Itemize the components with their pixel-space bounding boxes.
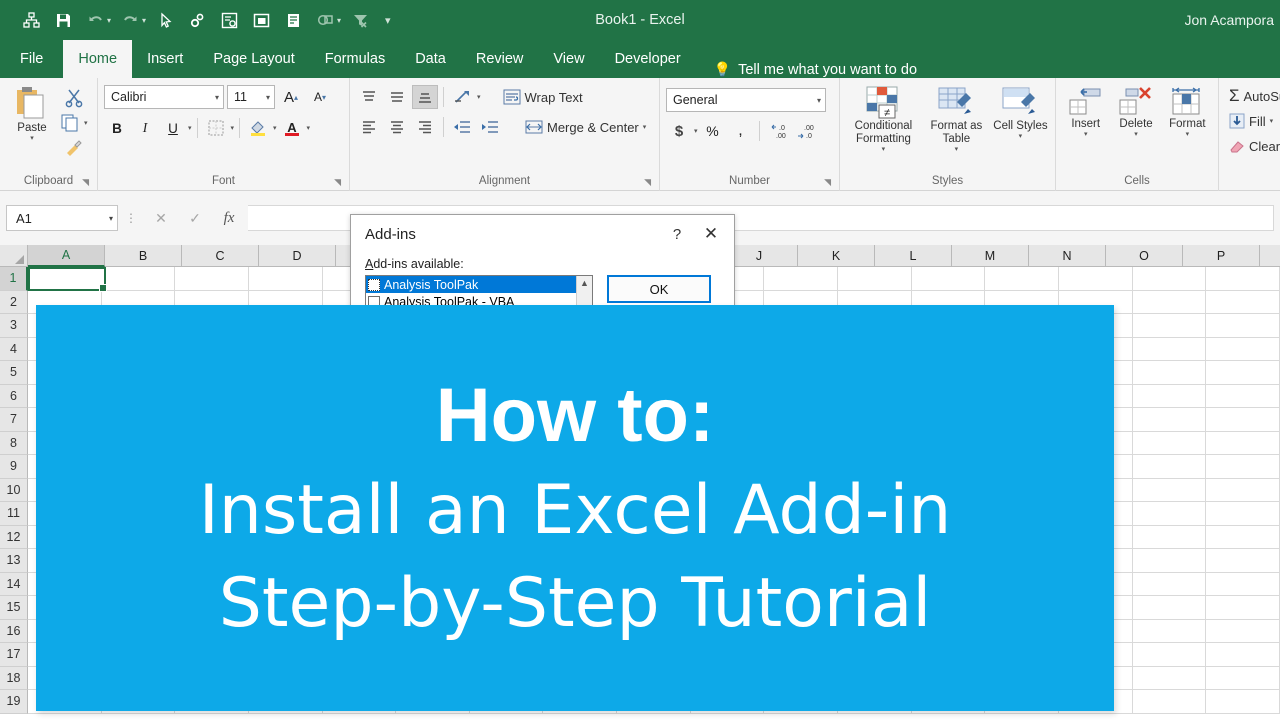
grid-cell[interactable] bbox=[249, 267, 323, 291]
grid-cell[interactable] bbox=[1133, 549, 1207, 573]
banner-line-2: Install an Excel Add-in bbox=[199, 467, 952, 555]
group-editing: Σ AutoSum Fill ▾ Clear bbox=[1218, 78, 1280, 191]
row-header-18[interactable]: 18 bbox=[0, 667, 28, 691]
grid-cell[interactable] bbox=[1133, 596, 1207, 620]
hierarchy-icon[interactable] bbox=[16, 5, 46, 35]
svg-text:.00: .00 bbox=[776, 133, 786, 140]
grid-cell[interactable] bbox=[764, 267, 838, 291]
number-format-combo[interactable]: General ▾ bbox=[666, 88, 826, 112]
number-separator bbox=[759, 121, 760, 141]
name-box[interactable]: A1 ▾ bbox=[6, 205, 118, 231]
paste-icon bbox=[15, 86, 49, 122]
name-box-caret-icon[interactable]: ▾ bbox=[109, 214, 113, 223]
underline-button[interactable]: U bbox=[160, 115, 186, 141]
eraser-icon bbox=[1229, 138, 1245, 154]
cut-button[interactable] bbox=[60, 87, 88, 109]
copy-caret-icon[interactable]: ▾ bbox=[84, 119, 88, 127]
grid-cell[interactable] bbox=[838, 267, 912, 291]
grid-cell[interactable] bbox=[1206, 526, 1280, 550]
autosum-label: AutoSum bbox=[1244, 89, 1280, 104]
grid-cell[interactable] bbox=[1206, 338, 1280, 362]
delete-cells-caret-icon[interactable]: ▾ bbox=[1134, 131, 1138, 139]
account-name[interactable]: Jon Acampora bbox=[1185, 0, 1275, 40]
tab-home[interactable]: Home bbox=[63, 40, 132, 78]
row-header-8[interactable]: 8 bbox=[0, 432, 28, 456]
tab-developer[interactable]: Developer bbox=[600, 40, 696, 78]
insert-cells-caret-icon[interactable]: ▾ bbox=[1084, 131, 1088, 139]
grid-cell[interactable] bbox=[1206, 643, 1280, 667]
grid-cell[interactable] bbox=[1133, 479, 1207, 503]
font-size-value: 11 bbox=[234, 90, 260, 104]
grid-cell[interactable] bbox=[1133, 620, 1207, 644]
group-label-font: Font ◥ bbox=[104, 171, 343, 191]
svg-text:.00: .00 bbox=[804, 125, 814, 132]
format-cells-button[interactable]: Format ▾ bbox=[1163, 84, 1212, 139]
font-separator-2 bbox=[239, 118, 240, 138]
select-all-corner[interactable] bbox=[0, 245, 28, 267]
wrap-text-icon bbox=[503, 89, 521, 105]
group-label-editing bbox=[1225, 171, 1274, 191]
tell-me-label: Tell me what you want to do bbox=[738, 62, 917, 78]
percent-button[interactable]: % bbox=[700, 118, 726, 144]
column-header-N[interactable]: N bbox=[1029, 245, 1106, 267]
grid-cell[interactable] bbox=[1133, 643, 1207, 667]
font-size-combo[interactable]: 11 ▾ bbox=[227, 85, 275, 109]
ok-button[interactable]: OK bbox=[607, 275, 711, 303]
clipboard-label-text: Clipboard bbox=[24, 175, 73, 187]
excel-window: ▾ ▾ ▾ bbox=[0, 0, 1280, 720]
font-color-caret-icon[interactable]: ▾ bbox=[307, 124, 311, 132]
cells-label-text: Cells bbox=[1124, 175, 1150, 187]
ribbon-tabs: File Home Insert Page Layout Formulas Da… bbox=[0, 40, 1280, 78]
video-title-banner: How to: Install an Excel Add-in Step-by-… bbox=[36, 305, 1114, 711]
grid-cell[interactable] bbox=[1206, 314, 1280, 338]
currency-caret-icon[interactable]: ▾ bbox=[694, 127, 698, 135]
ribbon-home: Paste ▾ ▾ bbox=[0, 78, 1280, 191]
format-as-table-label: Format as Table bbox=[923, 120, 990, 146]
tab-file[interactable]: File bbox=[0, 40, 63, 78]
banner-line-1: How to: bbox=[436, 368, 715, 463]
delete-cells-label: Delete bbox=[1119, 118, 1152, 131]
decrease-decimal-button[interactable]: .00.0 bbox=[793, 118, 819, 144]
shrink-font-button[interactable]: A▾ bbox=[307, 84, 333, 110]
cell-styles-button[interactable]: Cell Styles ▾ bbox=[992, 84, 1049, 141]
alignment-dialog-launcher[interactable]: ◥ bbox=[644, 177, 651, 188]
number-format-value: General bbox=[673, 93, 811, 107]
fill-color-caret-icon[interactable]: ▾ bbox=[273, 124, 277, 132]
cell-styles-label: Cell Styles bbox=[993, 120, 1047, 133]
row-header-3[interactable]: 3 bbox=[0, 314, 28, 338]
group-label-cells: Cells bbox=[1062, 171, 1212, 191]
row-header-13[interactable]: 13 bbox=[0, 549, 28, 573]
formula-bar-grip[interactable]: ⋮ bbox=[118, 211, 144, 225]
row-header-1[interactable]: 1 bbox=[0, 267, 28, 291]
conditional-formatting-label: Conditional Formatting bbox=[846, 120, 921, 146]
align-right-button[interactable] bbox=[412, 115, 438, 139]
column-header-C[interactable]: C bbox=[182, 245, 259, 267]
grid-cell[interactable] bbox=[1206, 667, 1280, 691]
align-center-button[interactable] bbox=[384, 115, 410, 139]
tab-page-layout[interactable]: Page Layout bbox=[198, 40, 309, 78]
grid-cell[interactable] bbox=[1133, 267, 1207, 291]
clear-filter-icon[interactable] bbox=[345, 5, 375, 35]
alignment-separator bbox=[443, 87, 444, 107]
format-cells-caret-icon[interactable]: ▾ bbox=[1186, 131, 1190, 139]
align-bottom-button[interactable] bbox=[412, 85, 438, 109]
fill-caret-icon[interactable]: ▾ bbox=[1270, 117, 1274, 125]
column-header-L[interactable]: L bbox=[875, 245, 952, 267]
number-format-caret-icon[interactable]: ▾ bbox=[811, 96, 821, 105]
banner-line-3: Step-by-Step Tutorial bbox=[219, 560, 932, 648]
grid-cell[interactable] bbox=[1206, 291, 1280, 315]
bold-button[interactable]: B bbox=[104, 115, 130, 141]
grid-cell[interactable] bbox=[1206, 408, 1280, 432]
align-left-button[interactable] bbox=[356, 115, 382, 139]
redo-caret-icon[interactable]: ▾ bbox=[142, 16, 146, 25]
grid-cell[interactable] bbox=[1133, 291, 1207, 315]
grid-cell[interactable] bbox=[985, 267, 1059, 291]
grid-cell[interactable] bbox=[912, 267, 986, 291]
macros-gears-icon[interactable] bbox=[182, 5, 212, 35]
column-header-K[interactable]: K bbox=[798, 245, 875, 267]
grid-cell[interactable] bbox=[102, 267, 176, 291]
indent-separator bbox=[443, 117, 444, 137]
insert-cells-label: Insert bbox=[1071, 118, 1100, 131]
grid-cell[interactable] bbox=[1059, 267, 1133, 291]
format-cells-label: Format bbox=[1169, 118, 1205, 131]
grid-cell[interactable] bbox=[1133, 667, 1207, 691]
svg-text:.0: .0 bbox=[779, 125, 785, 132]
number-label-text: Number bbox=[729, 175, 770, 187]
row-header-11[interactable]: 11 bbox=[0, 502, 28, 526]
tab-insert[interactable]: Insert bbox=[132, 40, 198, 78]
column-header-A[interactable]: A bbox=[28, 245, 105, 267]
grid-cell[interactable] bbox=[1206, 385, 1280, 409]
fill-button[interactable]: Fill ▾ bbox=[1225, 109, 1277, 133]
number-dialog-launcher[interactable]: ◥ bbox=[824, 177, 831, 188]
grid-cell[interactable] bbox=[1133, 432, 1207, 456]
align-top-button[interactable] bbox=[356, 85, 382, 109]
grow-font-button[interactable]: A▴ bbox=[278, 84, 304, 110]
grid-cell[interactable] bbox=[1133, 314, 1207, 338]
font-size-caret-icon[interactable]: ▾ bbox=[260, 93, 270, 102]
group-number: General ▾ $ ▾ % , .0.00 .00.0 Number ◥ bbox=[659, 78, 839, 191]
paste-caret-icon[interactable]: ▾ bbox=[30, 135, 34, 143]
clipboard-dialog-launcher[interactable]: ◥ bbox=[82, 177, 89, 188]
font-name-value: Calibri bbox=[111, 90, 209, 104]
wrap-text-label: Wrap Text bbox=[525, 90, 583, 105]
grid-cell[interactable] bbox=[1206, 502, 1280, 526]
paste-button[interactable]: Paste ▾ bbox=[6, 84, 58, 143]
merge-center-button[interactable]: Merge & Center ▾ bbox=[521, 114, 650, 140]
format-cells-icon bbox=[1169, 86, 1205, 118]
group-alignment: ▾ Wrap Text Merge & Center bbox=[349, 78, 659, 191]
clear-button[interactable]: Clear bbox=[1225, 134, 1280, 158]
list-item-label: Analysis ToolPak bbox=[384, 278, 478, 292]
grid-cell[interactable] bbox=[1133, 338, 1207, 362]
conditional-formatting-icon: ≠ bbox=[863, 86, 903, 120]
svg-text:A: A bbox=[287, 120, 297, 135]
comma-button[interactable]: , bbox=[728, 118, 754, 144]
grid-cell[interactable] bbox=[1133, 361, 1207, 385]
svg-text:.0: .0 bbox=[806, 133, 812, 140]
font-separator bbox=[197, 118, 198, 138]
grid-cell[interactable] bbox=[175, 267, 249, 291]
row-header-16[interactable]: 16 bbox=[0, 620, 28, 644]
delete-cells-icon bbox=[1118, 86, 1154, 118]
italic-button[interactable]: I bbox=[132, 115, 158, 141]
grid-cell[interactable] bbox=[1206, 620, 1280, 644]
copy-icon bbox=[60, 113, 80, 133]
column-header-O[interactable]: O bbox=[1106, 245, 1183, 267]
row-header-9[interactable]: 9 bbox=[0, 455, 28, 479]
fill-color-button[interactable] bbox=[245, 115, 271, 141]
group-font: Calibri ▾ 11 ▾ A▴ A▾ B I U ▾ bbox=[97, 78, 349, 191]
row-headers: 1 2 3 4 5 6 7 8 9 10 11 12 13 14 15 16 1… bbox=[0, 267, 28, 714]
column-header-P[interactable]: P bbox=[1183, 245, 1260, 267]
grid-cell[interactable] bbox=[1206, 267, 1280, 291]
tab-review[interactable]: Review bbox=[461, 40, 539, 78]
align-middle-button[interactable] bbox=[384, 85, 410, 109]
format-painter-button[interactable] bbox=[60, 137, 88, 159]
tab-formulas[interactable]: Formulas bbox=[310, 40, 400, 78]
group-styles: ≠ Conditional Formatting ▾ Format as Tab… bbox=[839, 78, 1055, 191]
insert-cells-button[interactable]: Insert ▾ bbox=[1062, 84, 1109, 139]
grid-cell[interactable] bbox=[1133, 690, 1207, 714]
group-clipboard: Paste ▾ ▾ bbox=[0, 78, 97, 191]
grid-cell[interactable] bbox=[28, 267, 102, 291]
autosum-button[interactable]: Σ AutoSum bbox=[1225, 84, 1280, 108]
orientation-button[interactable] bbox=[449, 85, 475, 109]
grid-cell[interactable] bbox=[1133, 455, 1207, 479]
increase-indent-button[interactable] bbox=[477, 115, 503, 139]
undo-icon[interactable] bbox=[80, 5, 110, 35]
currency-button[interactable]: $ bbox=[666, 118, 692, 144]
confirm-entry-button[interactable]: ✓ bbox=[178, 205, 212, 231]
decrease-indent-button[interactable] bbox=[449, 115, 475, 139]
grid-cell[interactable] bbox=[1133, 573, 1207, 597]
fill-label: Fill bbox=[1249, 114, 1266, 129]
help-icon[interactable]: ? bbox=[660, 219, 694, 249]
checkbox-icon[interactable] bbox=[368, 279, 380, 291]
save-icon[interactable] bbox=[48, 5, 78, 35]
underline-caret-icon[interactable]: ▾ bbox=[188, 124, 192, 132]
grid-cell[interactable] bbox=[1206, 690, 1280, 714]
list-item[interactable]: Analysis ToolPak bbox=[366, 276, 576, 293]
column-header-Q[interactable]: Q bbox=[1260, 245, 1280, 267]
orientation-caret-icon[interactable]: ▾ bbox=[477, 93, 481, 101]
undo-caret-icon[interactable]: ▾ bbox=[107, 16, 111, 25]
paste-label: Paste bbox=[17, 122, 46, 135]
row-header-2[interactable]: 2 bbox=[0, 291, 28, 315]
svg-text:≠: ≠ bbox=[884, 107, 890, 119]
lightbulb-icon: 💡 bbox=[714, 61, 731, 78]
column-header-D[interactable]: D bbox=[259, 245, 336, 267]
row-header-4[interactable]: 4 bbox=[0, 338, 28, 362]
sigma-icon: Σ bbox=[1229, 86, 1240, 106]
grid-cell[interactable] bbox=[1133, 385, 1207, 409]
grid-cell[interactable] bbox=[1206, 549, 1280, 573]
grid-cell[interactable] bbox=[1206, 479, 1280, 503]
shapes-caret-icon[interactable]: ▾ bbox=[337, 16, 341, 25]
add-ins-dialog: Add-ins ? ✕ Add-ins available: Analysis … bbox=[350, 214, 735, 310]
add-ins-available-label: Add-ins available: bbox=[365, 257, 720, 271]
font-name-combo[interactable]: Calibri ▾ bbox=[104, 85, 224, 109]
row-header-19[interactable]: 19 bbox=[0, 690, 28, 714]
borders-caret-icon[interactable]: ▾ bbox=[231, 124, 235, 132]
format-as-table-icon bbox=[936, 86, 976, 120]
grid-cell[interactable] bbox=[1206, 596, 1280, 620]
shapes-icon[interactable] bbox=[310, 5, 340, 35]
window-icon[interactable] bbox=[246, 5, 276, 35]
tab-data[interactable]: Data bbox=[400, 40, 461, 78]
grid-cell[interactable] bbox=[1133, 526, 1207, 550]
row-header-17[interactable]: 17 bbox=[0, 643, 28, 667]
row-header-7[interactable]: 7 bbox=[0, 408, 28, 432]
pointer-icon[interactable] bbox=[150, 5, 180, 35]
column-header-B[interactable]: B bbox=[105, 245, 182, 267]
font-dialog-launcher[interactable]: ◥ bbox=[334, 177, 341, 188]
conditional-formatting-button[interactable]: ≠ Conditional Formatting ▾ bbox=[846, 84, 921, 154]
insert-function-button[interactable]: fx bbox=[212, 205, 246, 231]
group-label-alignment: Alignment ◥ bbox=[356, 171, 653, 191]
increase-decimal-button[interactable]: .0.00 bbox=[765, 118, 791, 144]
alignment-label-text: Alignment bbox=[479, 175, 530, 187]
group-label-clipboard: Clipboard ◥ bbox=[6, 171, 91, 191]
font-color-button[interactable]: A bbox=[279, 115, 305, 141]
font-name-caret-icon[interactable]: ▾ bbox=[209, 93, 219, 102]
borders-button[interactable] bbox=[203, 115, 229, 141]
delete-cells-button[interactable]: Delete ▾ bbox=[1111, 84, 1160, 139]
group-label-styles: Styles bbox=[846, 171, 1049, 191]
dialog-body: Add-ins available: Analysis ToolPak Anal… bbox=[351, 253, 734, 310]
column-header-M[interactable]: M bbox=[952, 245, 1029, 267]
merge-center-caret-icon[interactable]: ▾ bbox=[643, 123, 647, 131]
row-header-14[interactable]: 14 bbox=[0, 573, 28, 597]
clear-label: Clear bbox=[1249, 139, 1280, 154]
grid-cell[interactable] bbox=[1133, 502, 1207, 526]
row-header-5[interactable]: 5 bbox=[0, 361, 28, 385]
redo-icon[interactable] bbox=[115, 5, 145, 35]
format-as-table-caret-icon[interactable]: ▾ bbox=[955, 146, 959, 154]
title-bar: ▾ ▾ ▾ bbox=[0, 0, 1280, 40]
grid-cell[interactable] bbox=[1206, 455, 1280, 479]
customize-qat-icon[interactable]: ▾ bbox=[385, 14, 391, 27]
scroll-up-icon[interactable]: ▲ bbox=[580, 276, 589, 290]
available-label-rest: dd-ins available: bbox=[373, 257, 463, 271]
quick-access-toolbar: ▾ ▾ ▾ bbox=[16, 0, 393, 40]
conditional-formatting-caret-icon[interactable]: ▾ bbox=[882, 146, 886, 154]
grid-cell[interactable] bbox=[1206, 573, 1280, 597]
grid-cell[interactable] bbox=[1133, 408, 1207, 432]
row-header-15[interactable]: 15 bbox=[0, 596, 28, 620]
wrap-text-button[interactable]: Wrap Text bbox=[499, 84, 587, 110]
group-cells: Insert ▾ Delete ▾ Format ▾ bbox=[1055, 78, 1218, 191]
row-header-6[interactable]: 6 bbox=[0, 385, 28, 409]
close-icon[interactable]: ✕ bbox=[694, 219, 728, 249]
dialog-title: Add-ins bbox=[365, 226, 660, 243]
grid-cell[interactable] bbox=[1206, 432, 1280, 456]
tab-view[interactable]: View bbox=[538, 40, 599, 78]
copy-button[interactable]: ▾ bbox=[60, 112, 88, 134]
merge-center-icon bbox=[525, 119, 543, 135]
merge-center-label: Merge & Center bbox=[547, 120, 639, 135]
group-label-number: Number ◥ bbox=[666, 171, 833, 191]
cancel-entry-button[interactable]: ✕ bbox=[144, 205, 178, 231]
paste-special-icon[interactable] bbox=[278, 5, 308, 35]
tell-me-search[interactable]: 💡 Tell me what you want to do bbox=[696, 61, 917, 78]
form-icon[interactable] bbox=[214, 5, 244, 35]
font-label-text: Font bbox=[212, 175, 235, 187]
format-as-table-button[interactable]: Format as Table ▾ bbox=[923, 84, 990, 154]
cell-styles-caret-icon[interactable]: ▾ bbox=[1019, 133, 1023, 141]
cell-styles-icon bbox=[1000, 86, 1040, 120]
row-header-12[interactable]: 12 bbox=[0, 526, 28, 550]
fill-down-icon bbox=[1229, 113, 1245, 129]
name-box-value: A1 bbox=[16, 211, 109, 226]
row-header-10[interactable]: 10 bbox=[0, 479, 28, 503]
dialog-title-bar: Add-ins ? ✕ bbox=[351, 215, 734, 253]
insert-cells-icon bbox=[1068, 86, 1104, 118]
grid-cell[interactable] bbox=[1206, 361, 1280, 385]
styles-label-text: Styles bbox=[932, 175, 963, 187]
